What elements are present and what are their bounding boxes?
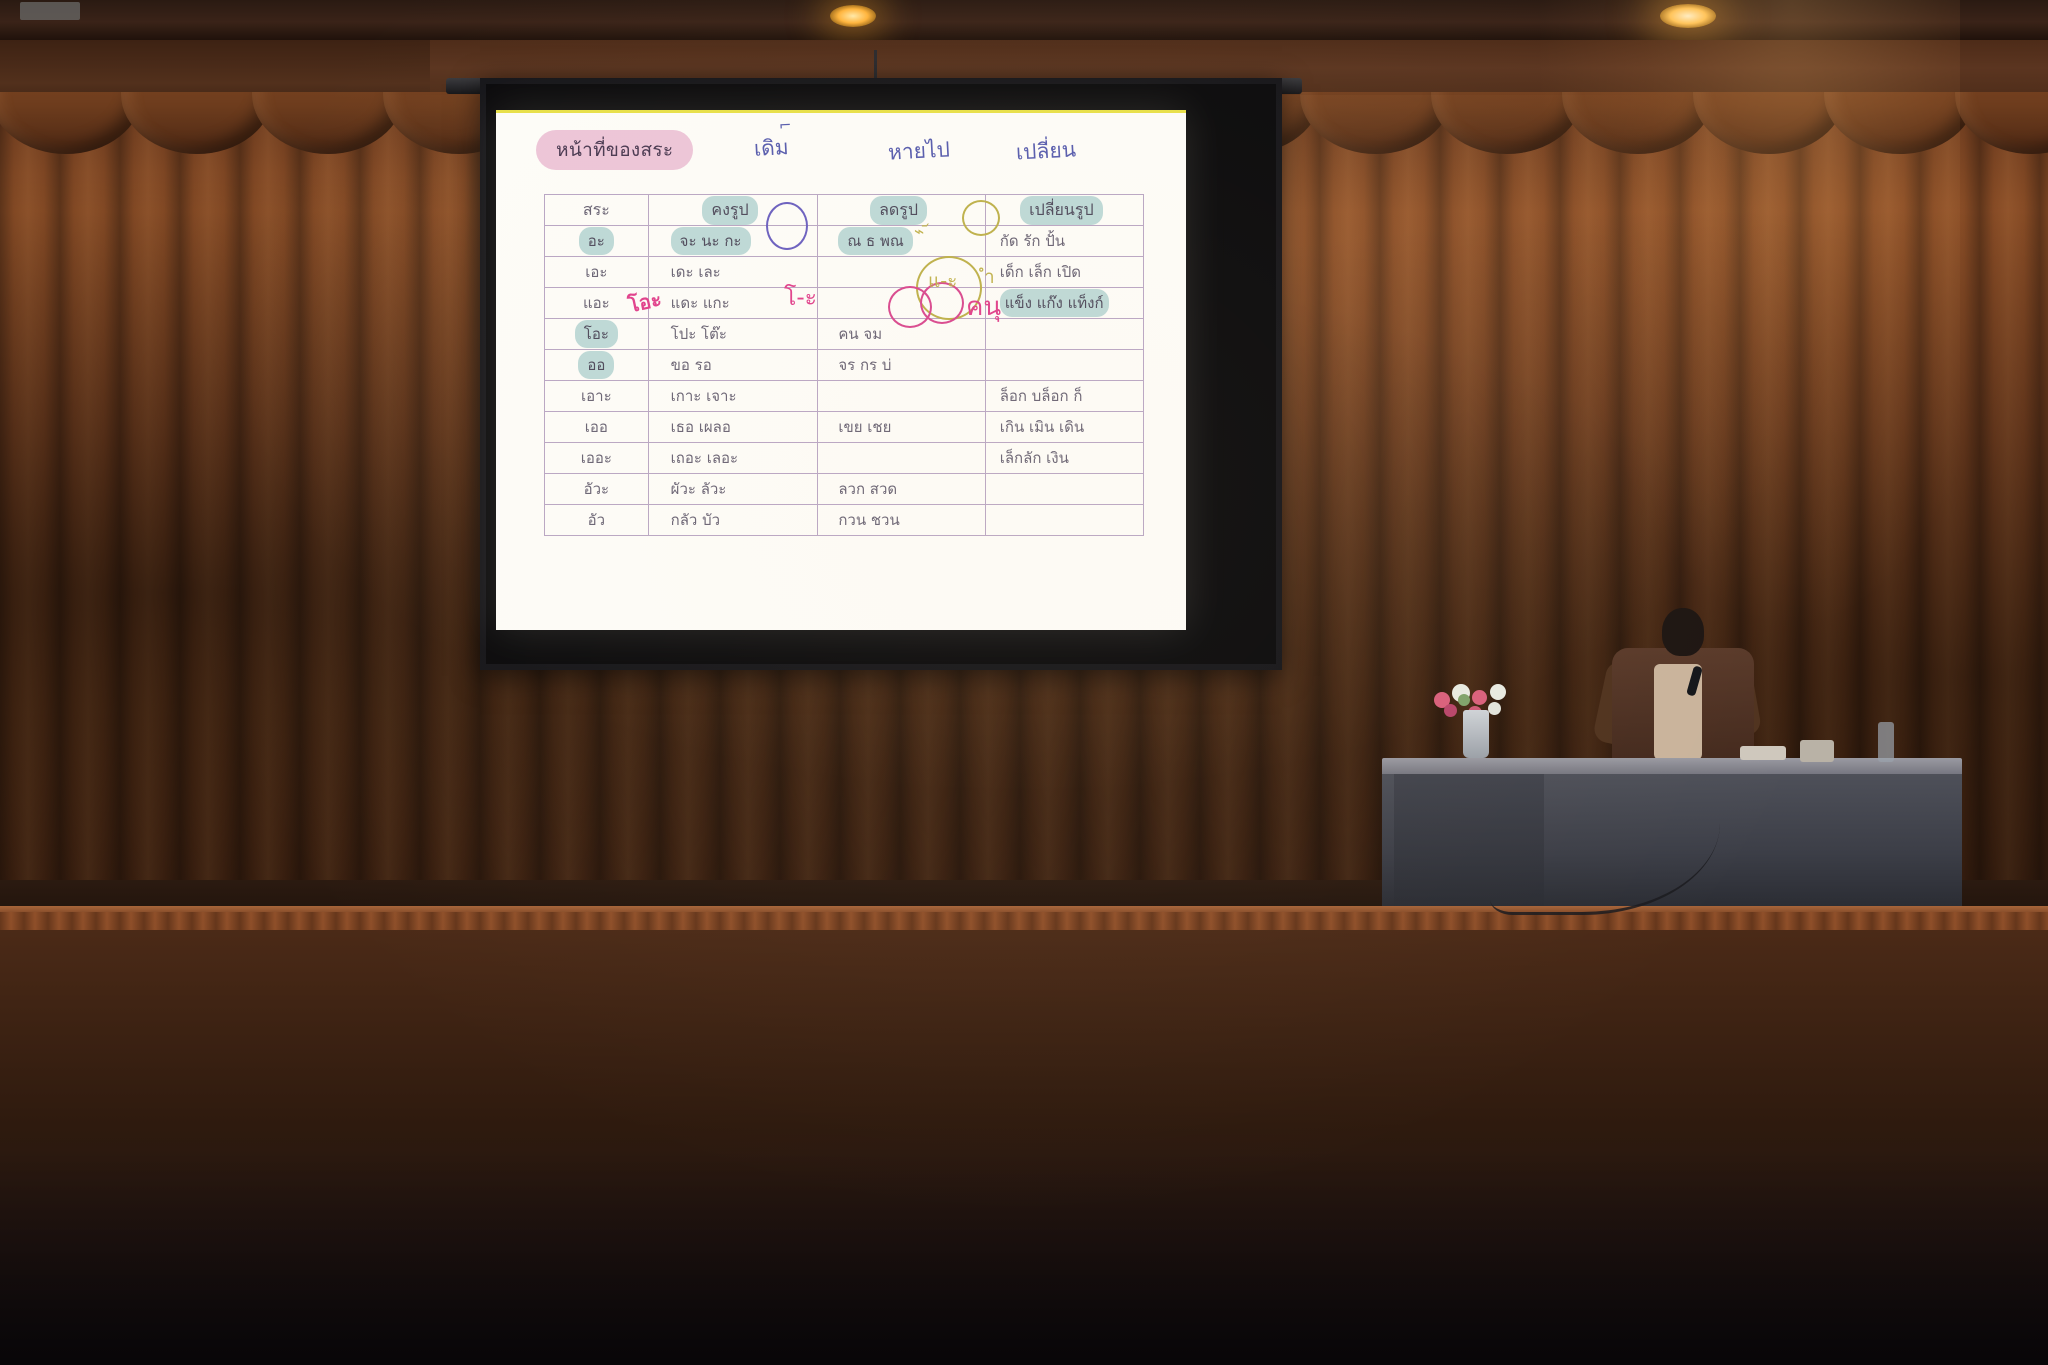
cell-reduce: ลวก สวด: [818, 474, 985, 505]
flower-petal: [1490, 684, 1506, 700]
cell-vowel: อะ: [545, 226, 649, 257]
table-row: ออ ขอ รอ จร กร บ่: [545, 350, 1144, 381]
cell-change: [985, 505, 1143, 536]
ceiling-panel: [20, 2, 80, 20]
projection-screen: หน้าที่ของสระ ⌐ เดิม หายไป เปลี่ยน สระ: [480, 78, 1282, 670]
cell-keep: กลัว บัว: [648, 505, 818, 536]
cell-vowel: ออ: [545, 350, 649, 381]
cell-reduce: [818, 257, 985, 288]
desk-object: [1800, 740, 1834, 762]
audience-floor: [0, 930, 2048, 1365]
cell-change: กัด รัก ปั้น: [985, 226, 1143, 257]
cell-keep: จะ นะ กะ: [648, 226, 818, 257]
flower-petal: [1472, 690, 1487, 705]
flower-vase: [1463, 710, 1489, 758]
ceiling-spotlight-right: [1660, 4, 1716, 28]
table-row: อัว กลัว บัว กวน ชวน: [545, 505, 1144, 536]
ceiling-spotlight-left: [830, 5, 876, 27]
cell-reduce: ณ ธ พณ: [818, 226, 985, 257]
cell-vowel: แอะ: [545, 288, 649, 319]
screen-cord: [874, 50, 877, 80]
table-row: เออะ เถอะ เลอะ เล็กลัก เงิน: [545, 443, 1144, 474]
slide-title: หน้าที่ของสระ: [536, 130, 693, 170]
table-row: อัวะ ผัวะ ลัวะ ลวก สวด: [545, 474, 1144, 505]
cell-change: แข็ง แก๊ง แท็งก์: [985, 288, 1143, 319]
cell-reduce: เขย เชย: [818, 412, 985, 443]
cell-keep: เกาะ เจาะ: [648, 381, 818, 412]
table-row: แอะ แดะ แกะ แข็ง แก๊ง แท็งก์: [545, 288, 1144, 319]
table-row: โอะ โปะ โต๊ะ คน จม: [545, 319, 1144, 350]
caret-mark: ⌐: [778, 116, 792, 135]
cell-keep: เดะ เละ: [648, 257, 818, 288]
handwritten-note-change: เปลี่ยน: [1015, 133, 1077, 169]
table-row: อะ จะ นะ กะ ณ ธ พณ กัด รัก ปั้น: [545, 226, 1144, 257]
flower-petal: [1458, 694, 1470, 706]
header-vowel: สระ: [545, 195, 649, 226]
cell-reduce: กวน ชวน: [818, 505, 985, 536]
audience-area: บ.03.00213พ.ย. 00553วัดวิสุทธิ์มรภอุ 255…: [0, 930, 2048, 1365]
handwritten-note-keep: ⌐ เดิม: [753, 131, 789, 166]
table-row: เอาะ เกาะ เจาะ ล็อก บล็อก ก็: [545, 381, 1144, 412]
cell-change: เล็กลัก เงิน: [985, 443, 1143, 474]
cell-vowel: เออ: [545, 412, 649, 443]
cell-keep: เถอะ เลอะ: [648, 443, 818, 474]
cell-keep: โปะ โต๊ะ: [648, 319, 818, 350]
cell-reduce: จร กร บ่: [818, 350, 985, 381]
cell-vowel: เออะ: [545, 443, 649, 474]
cell-reduce: คน จม: [818, 319, 985, 350]
cell-vowel: อัวะ: [545, 474, 649, 505]
table-row: เอะ เดะ เละ เด็ก เล็ก เปิด: [545, 257, 1144, 288]
cell-vowel: เอาะ: [545, 381, 649, 412]
cell-reduce: [818, 443, 985, 474]
cell-reduce: [818, 288, 985, 319]
flower-petal: [1488, 702, 1501, 715]
cell-vowel: เอะ: [545, 257, 649, 288]
cell-vowel: โอะ: [545, 319, 649, 350]
cell-keep: แดะ แกะ: [648, 288, 818, 319]
vowel-function-table: สระ คงรูป ลดรูป เปลี่ยนรูป อะ: [544, 194, 1144, 536]
slide-top-rule: [496, 110, 1186, 113]
cell-keep: ขอ รอ: [648, 350, 818, 381]
desk-paper: [1740, 746, 1786, 760]
cell-change: [985, 350, 1143, 381]
cell-keep: ผัวะ ลัวะ: [648, 474, 818, 505]
speaker-head: [1662, 608, 1704, 656]
table-header-row: สระ คงรูป ลดรูป เปลี่ยนรูป: [545, 195, 1144, 226]
cell-change: เกิน เมิน เดิน: [985, 412, 1143, 443]
auditorium-scene: หน้าที่ของสระ ⌐ เดิม หายไป เปลี่ยน สระ: [0, 0, 2048, 1365]
header-keep: คงรูป: [648, 195, 818, 226]
cell-change: ล็อก บล็อก ก็: [985, 381, 1143, 412]
cell-keep: เธอ เผลอ: [648, 412, 818, 443]
cell-change: [985, 319, 1143, 350]
cell-change: เด็ก เล็ก เปิด: [985, 257, 1143, 288]
projected-slide: หน้าที่ของสระ ⌐ เดิม หายไป เปลี่ยน สระ: [496, 110, 1186, 630]
water-bottle: [1878, 722, 1894, 762]
header-reduce: ลดรูป: [818, 195, 985, 226]
table-row: เออ เธอ เผลอ เขย เชย เกิน เมิน เดิน: [545, 412, 1144, 443]
header-change: เปลี่ยนรูป: [985, 195, 1143, 226]
handwritten-note-reduce: หายไป: [887, 133, 950, 169]
cell-reduce: [818, 381, 985, 412]
cell-change: [985, 474, 1143, 505]
flower-petal: [1444, 704, 1457, 717]
cell-vowel: อัว: [545, 505, 649, 536]
ceiling: [0, 0, 2048, 40]
